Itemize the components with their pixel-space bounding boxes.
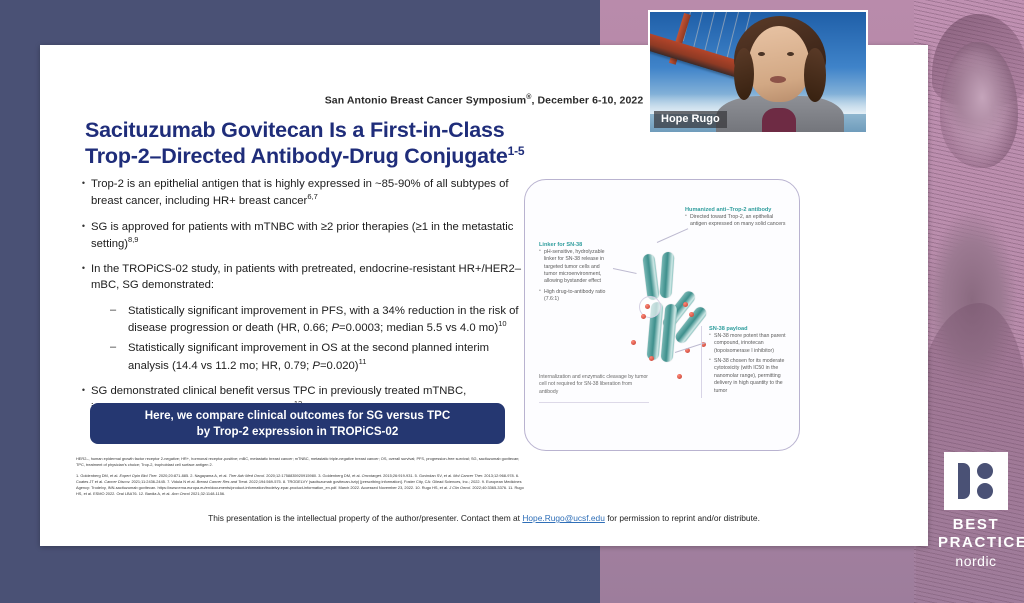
callout-line-1: Here, we compare clinical outcomes for S…	[145, 409, 450, 422]
logo-text-best: BEST	[938, 516, 1014, 533]
bullet-item: •In the TROPiCS-02 study, in patients wi…	[76, 261, 526, 294]
bullet-marker: –	[110, 303, 128, 337]
antibody-arm	[659, 252, 674, 299]
speaker-hair-right	[804, 48, 826, 102]
screen: San Antonio Breast Cancer Symposium®, De…	[0, 0, 1024, 603]
diagram-footnote: Internalization and enzymatic cleavage b…	[539, 374, 649, 403]
antibody-stem	[660, 304, 677, 363]
bullet-item: •Trop-2 is an epithelial antigen that is…	[76, 176, 526, 210]
sn38-payload-dot	[649, 356, 654, 361]
speaker-name-label: Hope Rugo	[654, 111, 727, 128]
payload-items: SN-38 more potent than parent compound, …	[709, 333, 793, 395]
bullet-marker: –	[110, 340, 128, 374]
diagram-callout-payload: SN-38 payload SN-38 more potent than par…	[701, 326, 793, 398]
best-practice-nordic-logo: BEST PRACTICE nordic	[938, 452, 1014, 569]
bridge-cable	[704, 12, 715, 53]
logo-text-practice: PRACTICE	[938, 534, 1014, 551]
title-citation: 1-5	[508, 144, 525, 158]
statement-text-before: This presentation is the intellectual pr…	[208, 513, 522, 523]
linker-item: High drug-to-antibody ratio (7.6:1)	[539, 289, 613, 304]
bullet-text: Statistically significant improvement in…	[128, 303, 526, 337]
linker-item: pH-sensitive, hydrolyzable linker for SN…	[539, 249, 613, 286]
speaker-mouth	[770, 76, 786, 83]
speaker-eye-right	[787, 52, 794, 56]
bullet-text: Trop-2 is an epithelial antigen that is …	[91, 176, 526, 210]
antibody-heading: Humanized anti–Trop-2 antibody	[685, 207, 791, 214]
payload-item: SN-38 more potent than parent compound, …	[709, 333, 793, 355]
speaker-shirt	[762, 108, 796, 134]
linker-heading: Linker for SN-38	[539, 242, 613, 249]
bullet-marker: •	[76, 176, 91, 210]
bridge-cable	[693, 12, 703, 47]
adc-mechanism-diagram: Linker for SN-38 pH-sensitive, hydrolyza…	[524, 179, 800, 451]
bullet-marker: •	[76, 261, 91, 294]
callout-line-2: by Trop-2 expression in TROPiCS-02	[197, 425, 399, 438]
bullet-marker: •	[76, 383, 91, 417]
sn38-payload-dot	[645, 304, 650, 309]
sn38-payload-dot	[683, 302, 688, 307]
bullet-list: •Trop-2 is an epithelial antigen that is…	[76, 176, 526, 425]
sub-bullet-item: –Statistically significant improvement i…	[110, 303, 526, 337]
symposium-date: , December 6-10, 2022	[531, 95, 643, 107]
logo-bar-shape	[958, 463, 970, 499]
symposium-name: San Antonio Breast Cancer Symposium	[325, 95, 527, 107]
payload-heading: SN-38 payload	[709, 326, 793, 333]
bullet-marker: •	[76, 219, 91, 253]
sub-bullet-item: –Statistically significant improvement i…	[110, 340, 526, 374]
diagram-callout-antibody: Humanized anti–Trop-2 antibody Directed …	[685, 207, 791, 232]
sn38-payload-dot	[631, 340, 636, 345]
bullet-item: •SG is approved for patients with mTNBC …	[76, 219, 526, 253]
logo-dot-lower	[977, 483, 993, 499]
speaker-eye-left	[758, 52, 765, 56]
logo-mark-icon	[944, 452, 1008, 510]
logo-dot-upper	[977, 463, 993, 479]
leader-line	[657, 228, 688, 243]
diagram-callout-linker: Linker for SN-38 pH-sensitive, hydrolyza…	[539, 242, 613, 307]
speaker-video-tile[interactable]: Hope Rugo	[648, 10, 868, 134]
abbreviations-footnote: HER2–, human epidermal growth factor rec…	[76, 456, 524, 468]
bullet-text: Statistically significant improvement in…	[128, 340, 526, 374]
sn38-payload-dot	[677, 374, 682, 379]
antibody-arm	[642, 253, 660, 300]
references-footnote: 1. Goldenberg DM, et al. Expert Opin Bio…	[76, 473, 524, 497]
title-line-1: Sacituzumab Govitecan Is a First-in-Clas…	[85, 118, 505, 142]
linker-items: pH-sensitive, hydrolyzable linker for SN…	[539, 249, 613, 304]
antibody-items: Directed toward Trop-2, an epithelial an…	[685, 214, 791, 229]
copyright-statement: This presentation is the intellectual pr…	[40, 513, 928, 523]
key-message-callout: Here, we compare clinical outcomes for S…	[90, 403, 505, 444]
page-title: Sacituzumab Govitecan Is a First-in-Clas…	[85, 117, 685, 169]
speaker-hair-left	[734, 48, 754, 100]
speaker-face	[748, 26, 810, 102]
bridge-cable	[714, 12, 727, 59]
payload-item: SN-38 chosen for its moderate cytotoxici…	[709, 358, 793, 395]
sn38-payload-dot	[689, 312, 694, 317]
statement-text-after: for permission to reprint and/or distrib…	[605, 513, 760, 523]
presenter-email-link[interactable]: Hope.Rugo@ucsf.edu	[522, 513, 605, 523]
antibody-item: Directed toward Trop-2, an epithelial an…	[685, 214, 791, 229]
sn38-payload-dot	[641, 314, 646, 319]
logo-text-nordic: nordic	[938, 553, 1014, 569]
bullet-text: In the TROPiCS-02 study, in patients wit…	[91, 261, 526, 294]
bullet-text: SG is approved for patients with mTNBC w…	[91, 219, 526, 253]
portrait-hair	[932, 14, 1024, 106]
title-line-2: Trop-2–Directed Antibody-Drug Conjugate	[85, 144, 508, 168]
